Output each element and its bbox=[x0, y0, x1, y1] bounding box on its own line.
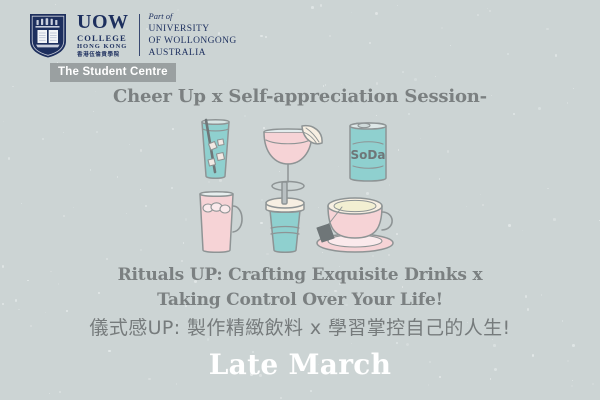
soda-can-icon: SoDa bbox=[350, 123, 386, 181]
subtitle-line-2: Taking Control Over Your Life! bbox=[0, 290, 600, 310]
uow-brand-chinese: 香港伍倫貢學院 bbox=[77, 53, 129, 59]
uow-shield-icon bbox=[28, 11, 68, 59]
subtitle-chinese: 儀式感UP: 製作精緻飲料 x 學習掌控自己的人生! bbox=[0, 313, 600, 340]
subtitle-line-1: Rituals UP: Crafting Exquisite Drinks x bbox=[0, 265, 600, 285]
cocktail-coupe-icon bbox=[264, 126, 322, 191]
uow-brand-college: COLLEGE bbox=[77, 34, 129, 43]
event-date: Late March bbox=[0, 348, 600, 381]
uow-college-logo: UOW COLLEGE HONG KONG 香港伍倫貢學院 Part of UN… bbox=[28, 11, 237, 59]
partof-university-block: Part of UNIVERSITY OF WOLLONGONG AUSTRAL… bbox=[149, 11, 237, 59]
uow-wordmark: UOW COLLEGE HONG KONG 香港伍倫貢學院 bbox=[77, 12, 129, 59]
partof-label: Part of bbox=[149, 11, 237, 22]
partof-line-university: UNIVERSITY bbox=[149, 23, 237, 35]
uow-brand-main: UOW bbox=[77, 12, 129, 32]
beer-mug-icon bbox=[200, 192, 242, 253]
page-title: Cheer Up x Self-appreciation Session- bbox=[0, 86, 600, 107]
teacup-icon bbox=[317, 198, 393, 252]
logo-divider bbox=[139, 14, 140, 56]
uow-brand-hongkong: HONG KONG bbox=[77, 44, 129, 51]
six-drinks-illustration: SoDa bbox=[190, 110, 410, 260]
tumbler-cup-icon bbox=[266, 182, 304, 252]
student-centre-badge: The Student Centre bbox=[50, 63, 176, 82]
partof-line-australia: AUSTRALIA bbox=[149, 47, 237, 59]
iced-drink-glass-icon bbox=[202, 120, 229, 179]
poster-canvas: UOW COLLEGE HONG KONG 香港伍倫貢學院 Part of UN… bbox=[0, 0, 600, 400]
partof-line-wollongong: OF WOLLONGONG bbox=[149, 35, 237, 47]
svg-text:SoDa: SoDa bbox=[351, 148, 386, 162]
